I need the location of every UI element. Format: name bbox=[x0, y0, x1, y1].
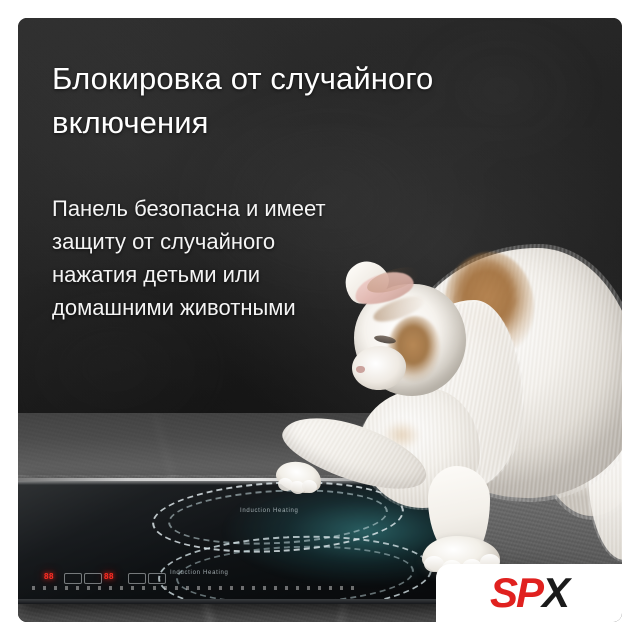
page-title: Блокировка от случайного включения bbox=[52, 57, 552, 145]
brand-logo-sp: SP bbox=[490, 569, 542, 616]
poster: Induction Heating Induction Heating 88 8… bbox=[0, 0, 640, 640]
brand-logo-plate: SPX bbox=[436, 564, 622, 622]
cat-nose bbox=[356, 366, 365, 373]
cooktop-lower-edge bbox=[18, 599, 448, 604]
brand-logo-x: X bbox=[542, 569, 568, 616]
brand-logo: SPX bbox=[490, 572, 568, 614]
body-description: Панель безопасна и имеет защиту от случа… bbox=[52, 192, 382, 324]
poster-canvas: Induction Heating Induction Heating 88 8… bbox=[18, 18, 622, 622]
